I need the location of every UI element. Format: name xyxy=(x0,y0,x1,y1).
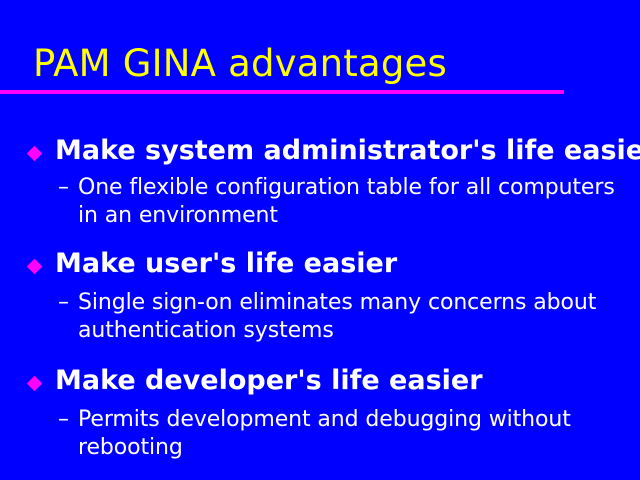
bullet-label: Make developer's life easier xyxy=(55,365,483,397)
title-underline-rule xyxy=(0,90,564,94)
bullet-item: Make developer's life easier xyxy=(0,365,640,397)
sub-bullet-item: – One flexible configuration table for a… xyxy=(78,174,640,230)
dash-bullet-icon: – xyxy=(58,289,69,317)
sub-bullet-label: One flexible configuration table for all… xyxy=(78,174,632,230)
bullet-group: Make developer's life easier – Permits d… xyxy=(0,345,640,462)
diamond-bullet-icon xyxy=(27,259,43,275)
bullet-item: Make user's life easier xyxy=(0,248,640,280)
bullet-group: Make user's life easier – Single sign-on… xyxy=(0,230,640,345)
slide-body: Make system administrator's life easier … xyxy=(0,130,640,462)
bullet-group: Make system administrator's life easier … xyxy=(0,130,640,230)
bullet-item: Make system administrator's life easier xyxy=(0,135,640,167)
diamond-bullet-icon xyxy=(27,376,43,392)
sub-bullet-item: – Single sign-on eliminates many concern… xyxy=(78,289,640,345)
presentation-slide: PAM GINA advantages Make system administ… xyxy=(0,0,640,480)
bullet-label: Make user's life easier xyxy=(55,248,397,280)
sub-bullet-label: Permits development and debugging withou… xyxy=(78,406,632,462)
sub-bullet-label: Single sign-on eliminates many concerns … xyxy=(78,289,632,345)
bullet-label: Make system administrator's life easier xyxy=(55,135,640,167)
slide-title: PAM GINA advantages xyxy=(33,42,447,86)
dash-bullet-icon: – xyxy=(58,174,69,202)
diamond-bullet-icon xyxy=(27,146,43,162)
sub-bullet-item: – Permits development and debugging with… xyxy=(78,406,640,462)
dash-bullet-icon: – xyxy=(58,406,69,434)
